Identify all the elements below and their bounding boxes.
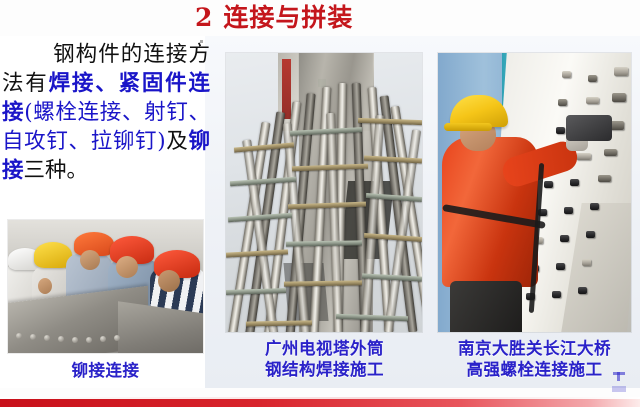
slide-title-text: 连接与拼装 bbox=[223, 3, 353, 32]
slide-title: 2连接与拼装 bbox=[195, 2, 485, 36]
caption-canton-line-2: 钢结构焊接施工 bbox=[222, 359, 427, 380]
edge-artifact-mark-4 bbox=[200, 40, 203, 43]
caption-nanjing-line-2: 高强螺栓连接施工 bbox=[432, 359, 637, 380]
caption-canton-tower: 广州电视塔外筒 钢结构焊接施工 bbox=[222, 338, 427, 380]
text-segment-plain-1: 钢构件的连接 bbox=[52, 42, 188, 67]
text-segment-and: 及 bbox=[166, 129, 189, 154]
caption-nanjing-bridge: 南京大胜关长江大桥 高强螺栓连接施工 bbox=[432, 338, 637, 380]
photo-high-strength-bolting bbox=[438, 53, 631, 332]
caption-riveted-connection: 铆接连接 bbox=[8, 360, 203, 381]
photo-riveted-connection-art bbox=[8, 220, 203, 353]
caption-riveted-line-1: 铆接连接 bbox=[8, 360, 203, 381]
text-segment-three-kinds: 三种。 bbox=[24, 158, 89, 183]
body-paragraph: 钢构件的连接方法有焊接、紧固件连接(螺栓连接、射钉、自攻钉、拉铆钉)及铆接三种。 bbox=[2, 40, 210, 185]
text-segment-paren-close: 铆钉) bbox=[113, 129, 166, 154]
photo-canton-tower-art bbox=[226, 53, 422, 332]
photo-high-strength-bolting-art bbox=[438, 53, 631, 332]
text-segment-welding-fastener: 焊接、紧固 bbox=[49, 71, 166, 96]
photo-canton-tower-welding bbox=[226, 53, 422, 332]
caption-nanjing-line-1: 南京大胜关长江大桥 bbox=[432, 338, 637, 359]
text-segment-paren-open: (螺栓连接、 bbox=[24, 100, 144, 125]
slide-title-number: 2 bbox=[195, 3, 213, 32]
footer-red-bar bbox=[0, 399, 640, 407]
edge-artifact-mark-2 bbox=[617, 372, 620, 381]
edge-artifact-mark-3 bbox=[612, 386, 626, 392]
caption-canton-line-1: 广州电视塔外筒 bbox=[222, 338, 427, 359]
photo-riveted-connection bbox=[8, 220, 203, 353]
slide-canvas: 2连接与拼装 钢构件的连接方法有焊接、紧固件连接(螺栓连接、射钉、自攻钉、拉铆钉… bbox=[0, 0, 640, 407]
